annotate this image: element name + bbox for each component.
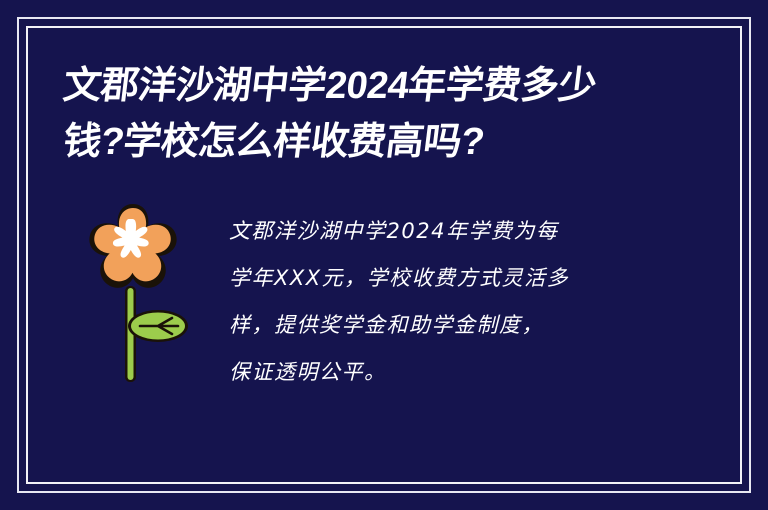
poster-canvas: 文郡洋沙湖中学2024年学费多少 钱?学校怎么样收费高吗? <box>0 0 768 510</box>
body-paragraph: 文郡洋沙湖中学2024年学费为每 学年XXX元，学校收费方式灵活多 样，提供奖学… <box>229 208 669 396</box>
body-line-1: 文郡洋沙湖中学2024年学费为每 <box>229 208 669 255</box>
body-line-3: 样，提供奖学金和助学金制度， <box>229 302 669 349</box>
body-line-4: 保证透明公平。 <box>229 349 669 396</box>
headline-line-2: 钱?学校怎么样收费高吗? <box>60 114 667 170</box>
headline-line-1: 文郡洋沙湖中学2024年学费多少 <box>60 58 667 114</box>
headline-title: 文郡洋沙湖中学2024年学费多少 钱?学校怎么样收费高吗? <box>60 58 660 170</box>
flower-illustration <box>78 198 188 388</box>
flower-leaf-group <box>128 310 188 342</box>
body-line-2: 学年XXX元，学校收费方式灵活多 <box>229 255 669 302</box>
